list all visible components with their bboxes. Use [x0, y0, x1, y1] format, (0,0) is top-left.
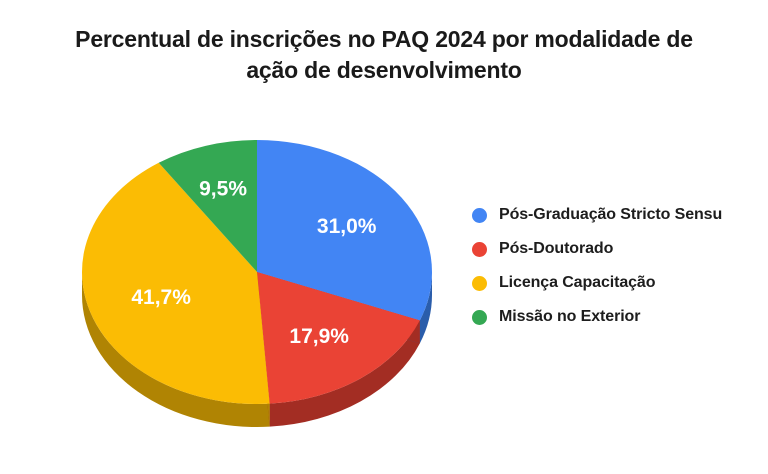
legend-label-1: Pós-Doutorado: [499, 240, 613, 258]
chart-legend: Pós-Graduação Stricto Sensu Pós-Doutorad…: [472, 198, 768, 334]
pie-slice-label-0: 31,0%: [317, 215, 377, 238]
legend-label-2: Licença Capacitação: [499, 274, 655, 292]
pie-slice-label-1: 17,9%: [289, 325, 349, 348]
legend-label-0: Pós-Graduação Stricto Sensu: [499, 206, 722, 224]
legend-item-0[interactable]: Pós-Graduação Stricto Sensu: [472, 198, 768, 232]
legend-swatch-icon-2: [472, 276, 487, 291]
chart-title: Percentual de inscrições no PAQ 2024 por…: [34, 24, 734, 86]
chart-title-line-1: Percentual de inscrições no PAQ 2024 por…: [75, 26, 693, 52]
legend-swatch-icon-3: [472, 310, 487, 325]
chart-title-line-2: ação de desenvolvimento: [246, 57, 521, 83]
legend-swatch-icon-1: [472, 242, 487, 257]
pie-slice-label-2: 41,7%: [131, 286, 191, 309]
pie-svg: 31,0%17,9%41,7%9,5%: [0, 100, 470, 440]
legend-item-1[interactable]: Pós-Doutorado: [472, 232, 768, 266]
pie-plot-area: 31,0%17,9%41,7%9,5%: [0, 100, 470, 440]
legend-swatch-icon-0: [472, 208, 487, 223]
legend-label-3: Missão no Exterior: [499, 308, 640, 326]
legend-item-2[interactable]: Licença Capacitação: [472, 266, 768, 300]
legend-item-3[interactable]: Missão no Exterior: [472, 300, 768, 334]
pie-chart-figure: Percentual de inscrições no PAQ 2024 por…: [0, 0, 768, 474]
pie-slice-label-3: 9,5%: [199, 178, 247, 201]
